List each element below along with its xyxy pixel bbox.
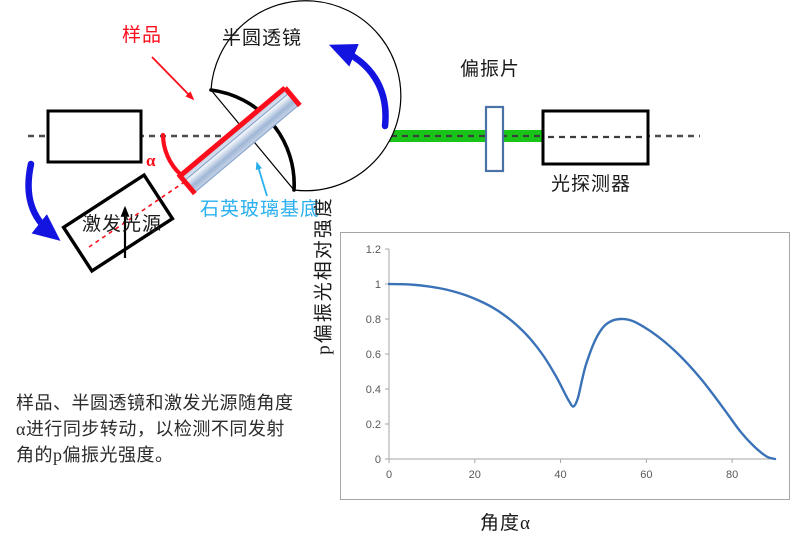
chart-x-tick-label: 80 (726, 469, 738, 481)
chart-x-tick-label: 60 (640, 469, 652, 481)
photodetector-label: 光探测器 (551, 175, 631, 194)
figure-caption: 样品、半圆透镜和激发光源随角度α进行同步转动，以检测不同发射角的p偏振光强度。 (16, 390, 296, 468)
figure-root: 样品 半圆透镜 偏振片 光探测器 石英玻璃基底 激发光源 α 样品、半圆透镜和激… (0, 0, 800, 552)
chart-series-line (389, 284, 775, 459)
chart-y-tick-label: 0.2 (366, 419, 381, 431)
excitation-source-label: 激发光源 (82, 215, 162, 234)
quartz-glass-substrate-slab (181, 89, 298, 192)
polarizer-label: 偏振片 (460, 60, 520, 79)
photodetector-box (543, 111, 648, 164)
rotation-arrow-top (339, 49, 386, 126)
chart-x-tick-label: 0 (386, 469, 392, 481)
alpha-angle-arc (163, 135, 180, 174)
sample-label: 样品 (122, 26, 162, 45)
chart-y-axis-label: p偏振光相对强度 (309, 171, 336, 381)
chart-y-tick-label: 0.6 (366, 349, 381, 361)
intensity-chart-panel: 00.20.40.60.811.2020406080 (340, 232, 790, 500)
substrate-leader-arrow (257, 163, 267, 196)
intensity-chart: 00.20.40.60.811.2020406080 (341, 233, 789, 499)
quartz-substrate-label: 石英玻璃基底 (200, 200, 320, 219)
chart-y-tick-label: 0.4 (366, 384, 381, 396)
chart-x-tick-label: 40 (554, 469, 566, 481)
chart-y-tick-label: 1.2 (366, 244, 381, 256)
rotation-arrow-bottom (29, 164, 52, 234)
green-beam (325, 122, 578, 150)
semicircular-lens-label: 半圆透镜 (222, 29, 302, 48)
alpha-angle-label: α (146, 152, 156, 169)
sample-leader-arrow (152, 57, 193, 99)
reference-box (48, 111, 141, 162)
chart-x-tick-label: 20 (469, 469, 481, 481)
polarizer-plate (486, 107, 503, 171)
chart-y-tick-label: 1 (375, 279, 381, 291)
sample-layer (180, 88, 300, 194)
chart-y-tick-label: 0 (375, 454, 381, 466)
chart-x-axis-label: 角度α (480, 508, 531, 535)
chart-y-tick-label: 0.8 (366, 314, 381, 326)
